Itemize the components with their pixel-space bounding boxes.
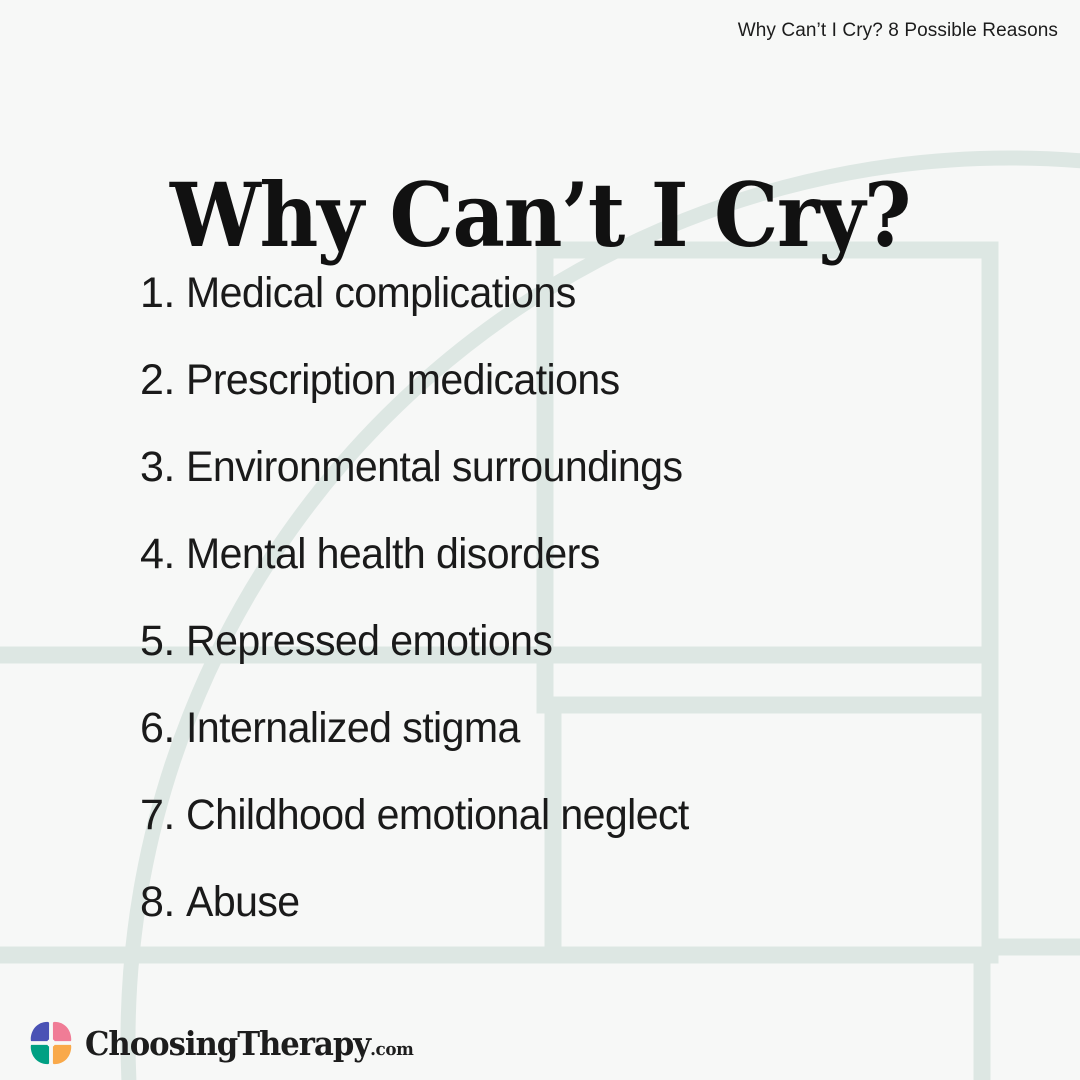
list-item-label: Medical complications [186,272,576,315]
brand-wordmark: ChoosingTherapy.com [85,1027,413,1060]
list-item: 8. Abuse [140,881,1020,968]
petal-bottom-right [53,1042,72,1064]
list-item-label: Prescription medications [186,359,620,402]
list-item: 1. Medical complications [140,272,1020,359]
list-item-label: Internalized stigma [186,707,520,750]
list-item-number: 5. [140,620,186,663]
brand-name: ChoosingTherapy [85,1024,370,1063]
list-item: 3. Environmental surroundings [140,446,1020,533]
list-item-label: Mental health disorders [186,533,600,576]
list-item-number: 4. [140,533,186,576]
choosingtherapy-pinwheel-icon [28,1020,74,1066]
list-item-number: 1. [140,272,186,315]
list-item-number: 3. [140,446,186,489]
petal-bottom-left [31,1042,50,1064]
brand-logo: ChoosingTherapy.com [28,1020,438,1066]
petal-top-left [31,1022,50,1044]
list-item-label: Abuse [186,881,300,924]
list-item: 6. Internalized stigma [140,707,1020,794]
reasons-list: 1. Medical complications 2. Prescription… [140,272,1020,968]
infographic-canvas: Why Can’t I Cry? 8 Possible Reasons Why … [0,0,1080,1080]
list-item-label: Repressed emotions [186,620,552,663]
brand-tld: .com [370,1039,413,1060]
list-item-label: Environmental surroundings [186,446,682,489]
list-item: 2. Prescription medications [140,359,1020,446]
page-title: Why Can’t I Cry? [43,169,1037,261]
list-item-label: Childhood emotional neglect [186,794,689,837]
list-item: 7. Childhood emotional neglect [140,794,1020,881]
petal-center [47,1039,55,1047]
article-eyebrow: Why Can’t I Cry? 8 Possible Reasons [738,20,1058,42]
list-item-number: 8. [140,881,186,924]
list-item-number: 7. [140,794,186,837]
petal-top-right [53,1022,72,1044]
list-item: 5. Repressed emotions [140,620,1020,707]
list-item-number: 6. [140,707,186,750]
list-item: 4. Mental health disorders [140,533,1020,620]
list-item-number: 2. [140,359,186,402]
